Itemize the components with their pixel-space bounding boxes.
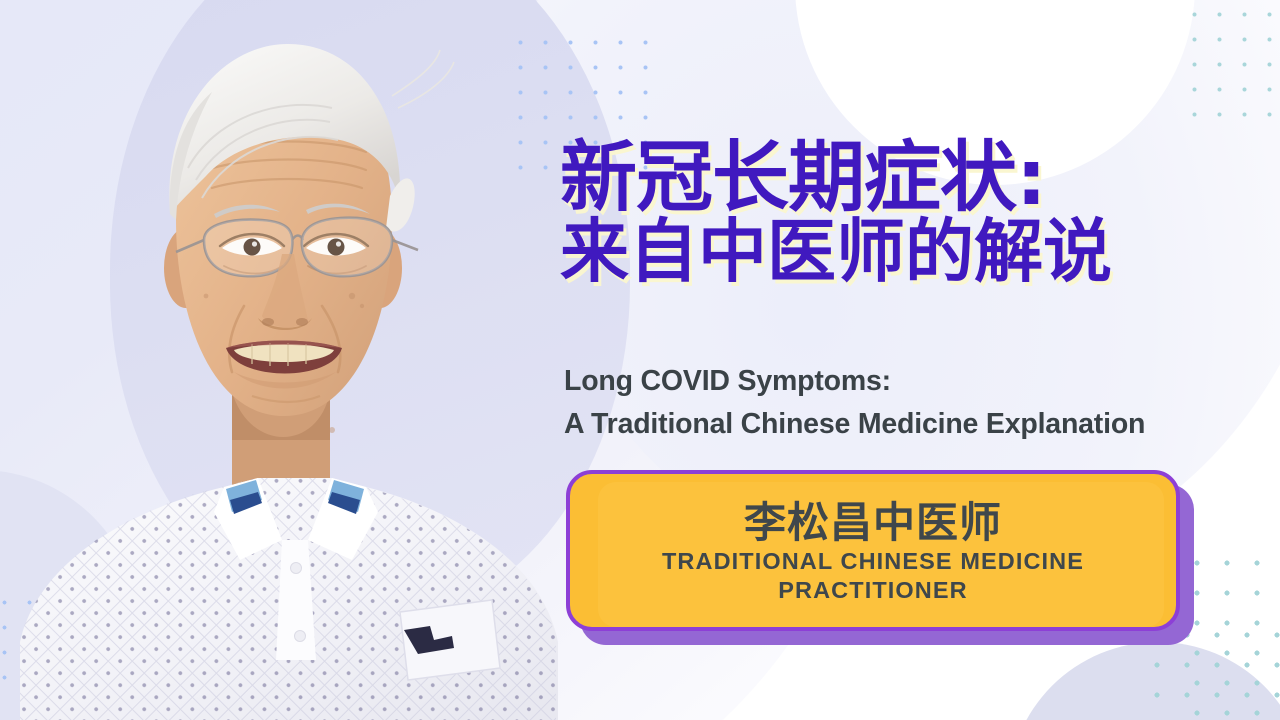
badge-role-line1: TRADITIONAL CHINESE MEDICINE bbox=[662, 548, 1084, 574]
portrait-photo bbox=[0, 0, 560, 720]
text-content: 新冠长期症状: 来自中医师的解说 Long COVID Symptoms: A … bbox=[556, 0, 1256, 720]
title-chinese: 新冠长期症状: 来自中医师的解说 bbox=[560, 140, 1260, 287]
subtitle-english: Long COVID Symptoms: A Traditional Chine… bbox=[564, 360, 1254, 447]
badge-text-group: 李松昌中医师 TRADITIONAL CHINESE MEDICINE PRAC… bbox=[570, 474, 1176, 627]
presenter-badge: 李松昌中医师 TRADITIONAL CHINESE MEDICINE PRAC… bbox=[566, 470, 1194, 645]
subtitle-line1: Long COVID Symptoms: bbox=[564, 365, 891, 397]
badge-presenter-name: 李松昌中医师 bbox=[744, 499, 1002, 546]
subtitle-line2: A Traditional Chinese Medicine Explanati… bbox=[564, 403, 1254, 446]
badge-presenter-role: TRADITIONAL CHINESE MEDICINE PRACTITIONE… bbox=[662, 547, 1084, 604]
badge-card: 李松昌中医师 TRADITIONAL CHINESE MEDICINE PRAC… bbox=[566, 470, 1180, 631]
title-chinese-line1: 新冠长期症状: bbox=[560, 134, 1046, 223]
thumbnail-canvas: 新冠长期症状: 来自中医师的解说 Long COVID Symptoms: A … bbox=[0, 0, 1280, 720]
title-chinese-line2: 来自中医师的解说 bbox=[560, 218, 1260, 288]
badge-role-line2: PRACTITIONER bbox=[778, 577, 967, 603]
